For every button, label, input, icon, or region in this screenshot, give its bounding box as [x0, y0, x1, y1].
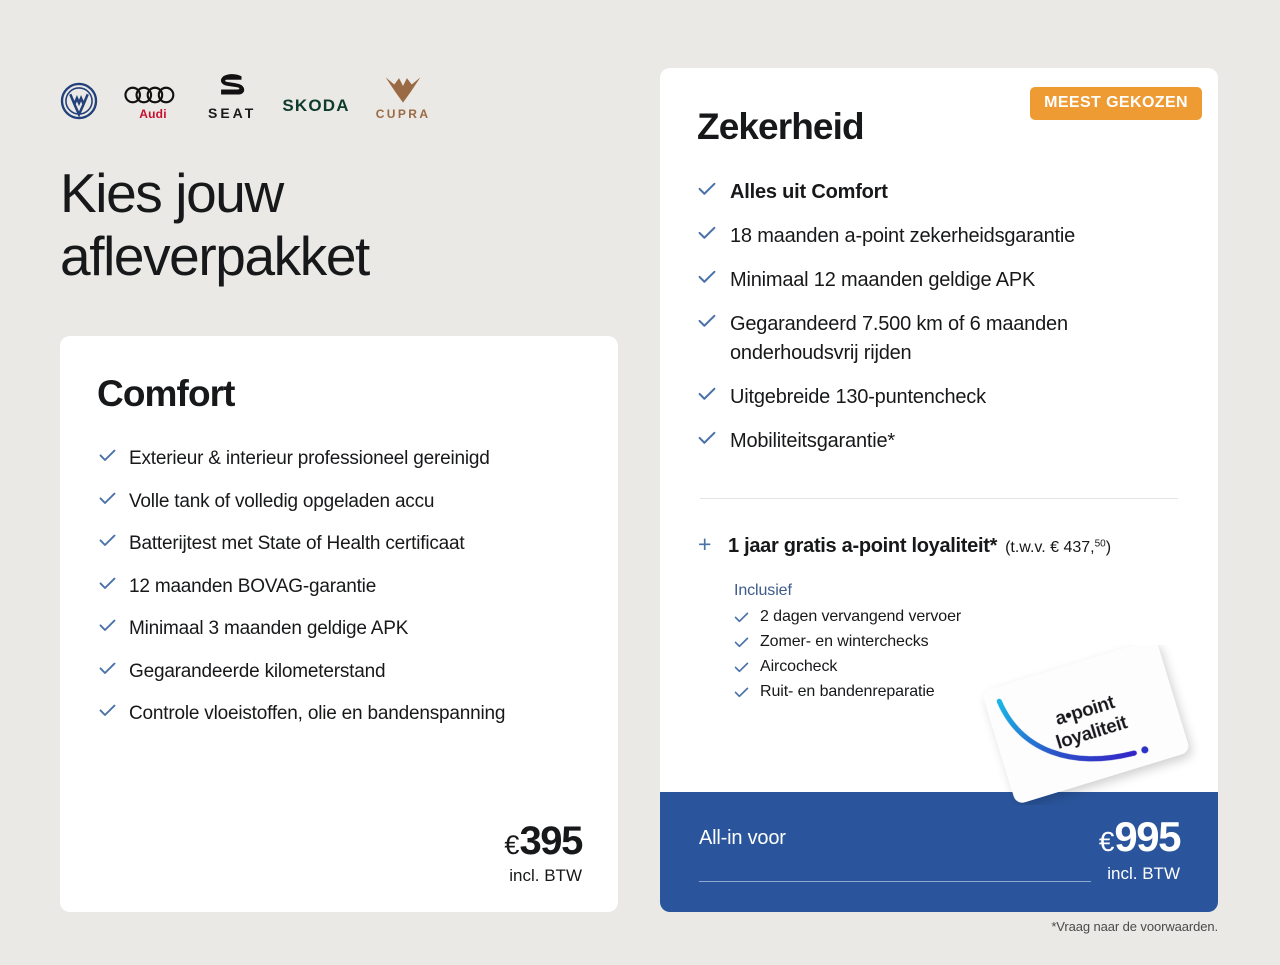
brand-audi: Audi: [124, 84, 182, 120]
check-icon: [99, 577, 116, 590]
check-icon: [99, 662, 116, 675]
comfort-title: Comfort: [97, 375, 235, 412]
comfort-price-block: €395 incl. BTW: [504, 821, 582, 884]
zekerheid-feature-list: Alles uit Comfort 18 maanden a-point zek…: [698, 178, 1178, 471]
comfort-price: €395: [504, 821, 582, 861]
list-item: Controle vloeistoffen, olie en bandenspa…: [99, 700, 582, 729]
list-item: Volle tank of volledig opgeladen accu: [99, 488, 582, 517]
check-icon: [734, 662, 749, 673]
list-item: 2 dagen vervangend vervoer: [734, 608, 1198, 626]
feature-text: Mobiliteitsgarantie*: [730, 427, 895, 456]
check-icon: [99, 492, 116, 505]
seat-logo-icon: [217, 72, 247, 104]
list-item: Mobiliteitsgarantie*: [698, 427, 1178, 456]
currency-symbol: €: [1099, 826, 1115, 857]
list-item: 12 maanden BOVAG-garantie: [99, 573, 582, 602]
check-icon: [734, 637, 749, 648]
check-icon: [698, 387, 716, 401]
feature-text: Batterijtest met State of Health certifi…: [129, 530, 464, 559]
check-icon: [698, 314, 716, 328]
list-item: Uitgebreide 130-puntencheck: [698, 383, 1178, 412]
zekerheid-price-footer: All-in voor €995 incl. BTW: [660, 792, 1218, 912]
cupra-wordmark: CUPRA: [376, 108, 431, 120]
feature-text: 12 maanden BOVAG-garantie: [129, 573, 376, 602]
divider: [699, 881, 1091, 882]
feature-text: Alles uit Comfort: [730, 178, 888, 207]
list-item: Minimaal 3 maanden geldige APK: [99, 615, 582, 644]
package-card-comfort[interactable]: Comfort Exterieur & interieur profession…: [60, 336, 618, 912]
feature-text: Gegarandeerd 7.500 km of 6 maanden onder…: [730, 310, 1178, 368]
check-icon: [698, 431, 716, 445]
loyalty-heading: + 1 jaar gratis a-point loyaliteit*(t.w.…: [698, 533, 1198, 558]
included-text: 2 dagen vervangend vervoer: [760, 608, 961, 626]
check-icon: [99, 704, 116, 717]
comfort-feature-list: Exterieur & interieur professioneel gere…: [99, 445, 582, 743]
audi-wordmark: Audi: [139, 108, 166, 120]
zekerheid-price-note: incl. BTW: [1099, 865, 1180, 882]
check-icon: [734, 687, 749, 698]
audi-rings-icon: [124, 84, 182, 106]
brand-cupra: CUPRA: [376, 75, 431, 120]
feature-text: Minimaal 12 maanden geldige APK: [730, 266, 1035, 295]
plus-icon: +: [698, 533, 714, 556]
brand-logo-strip: Audi SEAT SKODA CUPRA: [60, 68, 430, 120]
section-divider: [700, 498, 1178, 499]
price-amount: 395: [519, 819, 582, 863]
check-icon: [734, 612, 749, 623]
brand-volkswagen: [60, 82, 98, 120]
skoda-wordmark: SKODA: [282, 97, 349, 114]
check-icon: [99, 449, 116, 462]
zekerheid-title: Zekerheid: [697, 108, 864, 145]
currency-symbol: €: [504, 830, 519, 860]
status-badge: MEEST GEKOZEN: [1030, 87, 1202, 120]
list-item: Gegarandeerde kilometerstand: [99, 658, 582, 687]
loyalty-value-suffix: ): [1106, 539, 1111, 556]
feature-text: 18 maanden a-point zekerheidsgarantie: [730, 222, 1075, 251]
included-text: Aircocheck: [760, 658, 837, 676]
list-item: Batterijtest met State of Health certifi…: [99, 530, 582, 559]
feature-text: Controle vloeistoffen, olie en bandenspa…: [129, 700, 505, 729]
inclusief-label: Inclusief: [734, 582, 1198, 600]
zekerheid-price-block: €995 incl. BTW: [1099, 816, 1180, 882]
included-text: Ruit- en bandenreparatie: [760, 683, 935, 701]
check-icon: [99, 619, 116, 632]
page-title: Kies jouw afleverpakket: [60, 162, 369, 287]
loyalty-value-prefix: (t.w.v. € 437,: [1005, 539, 1095, 556]
feature-text: Uitgebreide 130-puntencheck: [730, 383, 986, 412]
list-item: Exterieur & interieur professioneel gere…: [99, 445, 582, 474]
loyalty-value-cents: 50: [1095, 539, 1106, 550]
loyalty-title: 1 jaar gratis a-point loyaliteit*: [728, 535, 997, 557]
feature-text: Minimaal 3 maanden geldige APK: [129, 615, 408, 644]
brand-skoda: SKODA: [282, 97, 349, 120]
list-item: Alles uit Comfort: [698, 178, 1178, 207]
seat-wordmark: SEAT: [208, 106, 256, 120]
comfort-price-note: incl. BTW: [504, 867, 582, 884]
feature-text: Volle tank of volledig opgeladen accu: [129, 488, 434, 517]
list-item: 18 maanden a-point zekerheidsgarantie: [698, 222, 1178, 251]
feature-text: Gegarandeerde kilometerstand: [129, 658, 385, 687]
cupra-logo-icon: [384, 75, 422, 105]
included-text: Zomer- en winterchecks: [760, 633, 929, 651]
allin-label: All-in voor: [699, 828, 786, 848]
loyalty-card-image: a•point loyaliteit: [972, 645, 1200, 805]
volkswagen-logo-icon: [60, 82, 98, 120]
list-item: Gegarandeerd 7.500 km of 6 maanden onder…: [698, 310, 1178, 368]
list-item: Minimaal 12 maanden geldige APK: [698, 266, 1178, 295]
price-amount: 995: [1114, 813, 1180, 860]
loyalty-value: (t.w.v. € 437,50): [1005, 539, 1111, 556]
check-icon: [698, 226, 716, 240]
check-icon: [99, 534, 116, 547]
feature-text: Exterieur & interieur professioneel gere…: [129, 445, 490, 474]
brand-seat: SEAT: [208, 72, 256, 120]
footnote: *Vraag naar de voorwaarden.: [1051, 919, 1218, 934]
headline-line-1: Kies jouw: [60, 162, 283, 224]
check-icon: [698, 182, 716, 196]
headline-line-2: afleverpakket: [60, 225, 369, 287]
promo-page: Audi SEAT SKODA CUPRA: [0, 0, 1280, 965]
check-icon: [698, 270, 716, 284]
zekerheid-price: €995: [1099, 816, 1180, 858]
